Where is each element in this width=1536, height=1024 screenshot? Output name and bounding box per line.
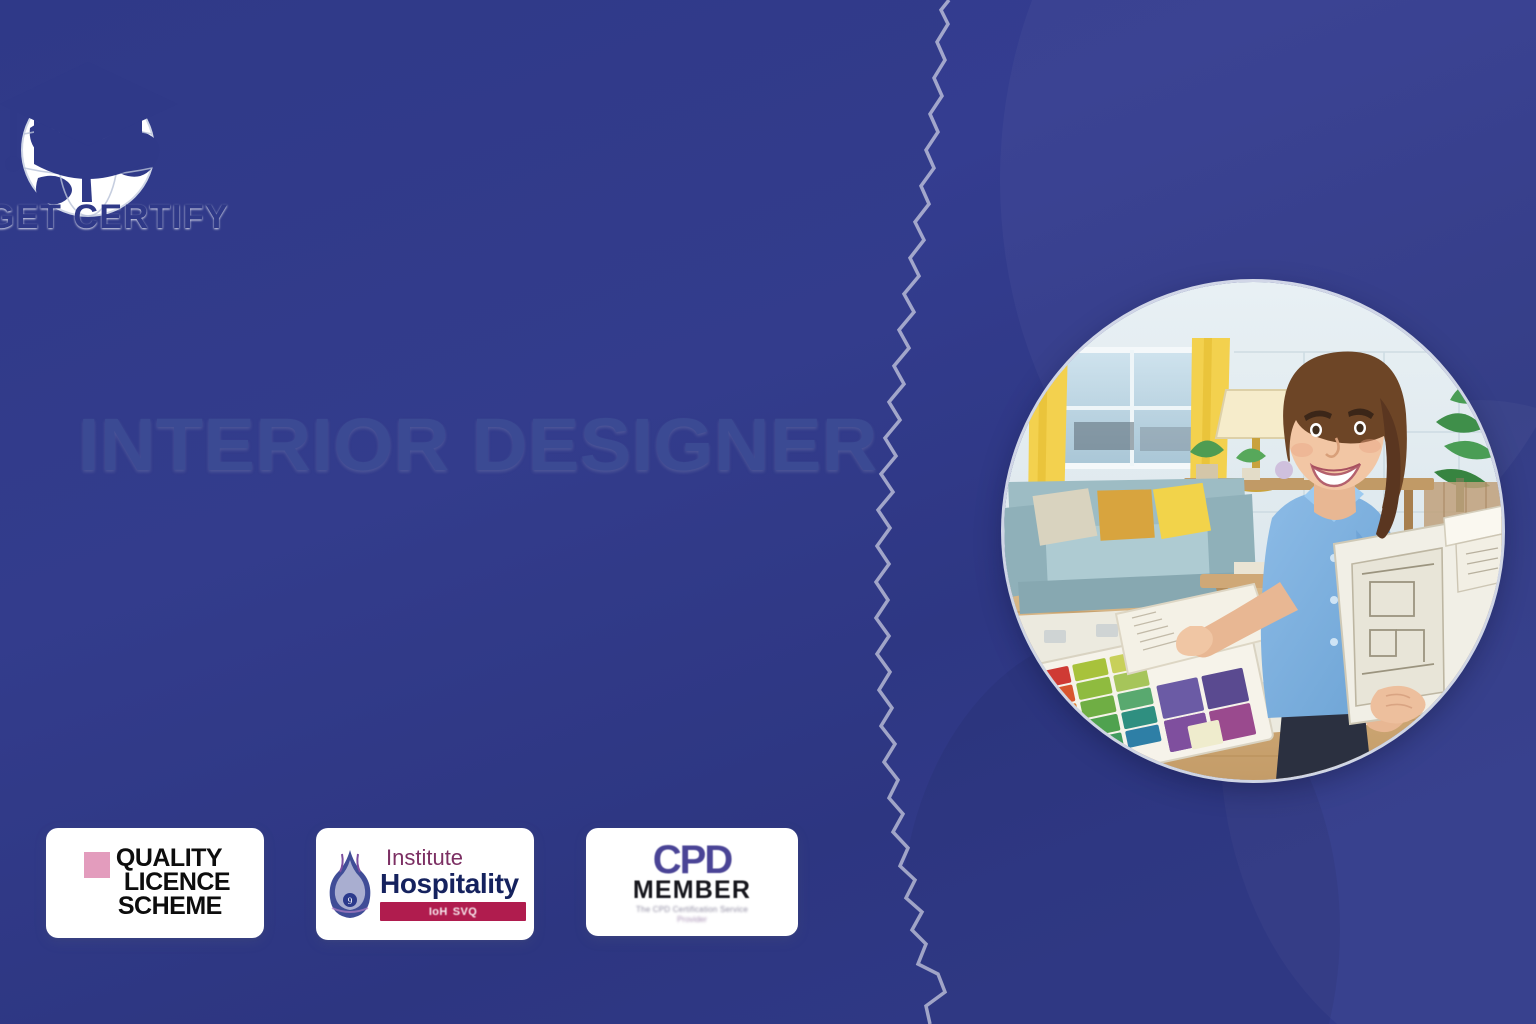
cpd-subtitle: The CPD Certification Service — [636, 906, 748, 914]
brand-logo-text: GET CERTIFY — [0, 198, 212, 237]
ioh-bar-text-right: SVQ — [453, 906, 477, 918]
qls-accent-square — [84, 852, 110, 878]
ioh-word-hospitality: Hospitality — [380, 869, 526, 898]
page-title: INTERIOR DESIGNER — [78, 408, 878, 482]
svg-text:9: 9 — [348, 896, 353, 906]
course-banner: GET CERTIFY INTERIOR DESIGNER — [0, 0, 1536, 1024]
brand-logo[interactable]: GET CERTIFY — [0, 28, 212, 243]
badge-institute-of-hospitality[interactable]: 9 Institute Hospitality IoH SVQ — [316, 828, 534, 940]
hero-image-circle: Interior designer woman holding a color … — [1004, 282, 1502, 780]
qls-line-3: SCHEME — [118, 895, 230, 919]
accreditation-badges: QUALITY LICENCE SCHEME 9 — [46, 828, 798, 940]
cpd-subtitle-secondary: Provider — [677, 916, 707, 924]
ioh-accreditation-bar: IoH SVQ — [380, 902, 526, 921]
badge-quality-licence-scheme[interactable]: QUALITY LICENCE SCHEME — [46, 828, 264, 938]
badge-cpd-member[interactable]: CPD MEMBER The CPD Certification Service… — [586, 828, 798, 936]
cpd-member-label: MEMBER — [633, 878, 751, 903]
cpd-acronym: CPD — [653, 840, 731, 880]
interior-designer-illustration — [1004, 282, 1502, 780]
institute-of-hospitality-emblem-icon: 9 — [324, 846, 376, 922]
ioh-word-institute: Institute — [386, 847, 526, 869]
ioh-bar-text-left: IoH — [429, 906, 448, 918]
